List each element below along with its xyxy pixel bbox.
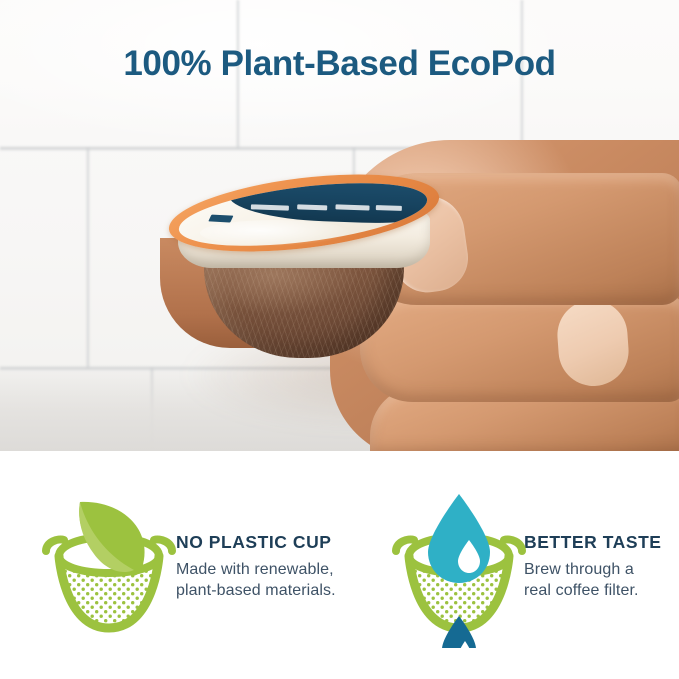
feature-body-line-1: Made with renewable, — [176, 559, 336, 580]
feature-text-block: NO PLASTIC CUP Made with renewable, plan… — [176, 488, 336, 601]
grout-line-vertical — [86, 148, 90, 368]
pod-label-text-mark — [297, 204, 327, 210]
product-infographic: 100% Plant-Based EcoPod — [0, 0, 679, 679]
feature-better-taste: BETTER TASTE Brew through a real coffee … — [386, 488, 662, 648]
waterdrop-through-filter-icon — [386, 488, 532, 648]
feature-panel: NO PLASTIC CUP Made with renewable, plan… — [0, 451, 679, 679]
leaf-in-filter-icon — [36, 488, 182, 648]
feature-text-block: BETTER TASTE Brew through a real coffee … — [524, 488, 662, 601]
hero-photo-panel: 100% Plant-Based EcoPod — [0, 0, 679, 451]
feature-body-line-2: real coffee filter. — [524, 580, 662, 601]
feature-heading: BETTER TASTE — [524, 532, 662, 553]
feature-body-line-2: plant-based materials. — [176, 580, 336, 601]
feature-body-line-1: Brew through a — [524, 559, 662, 580]
pod-label-tick — [208, 215, 233, 223]
coffee-pod — [164, 168, 452, 363]
pod-specular-highlight — [200, 220, 350, 246]
pod-label-text-mark — [376, 205, 402, 211]
grout-line-horizontal — [0, 146, 679, 151]
feature-no-plastic-cup: NO PLASTIC CUP Made with renewable, plan… — [36, 488, 336, 648]
feature-heading: NO PLASTIC CUP — [176, 532, 336, 553]
page-title: 100% Plant-Based EcoPod — [0, 44, 679, 84]
